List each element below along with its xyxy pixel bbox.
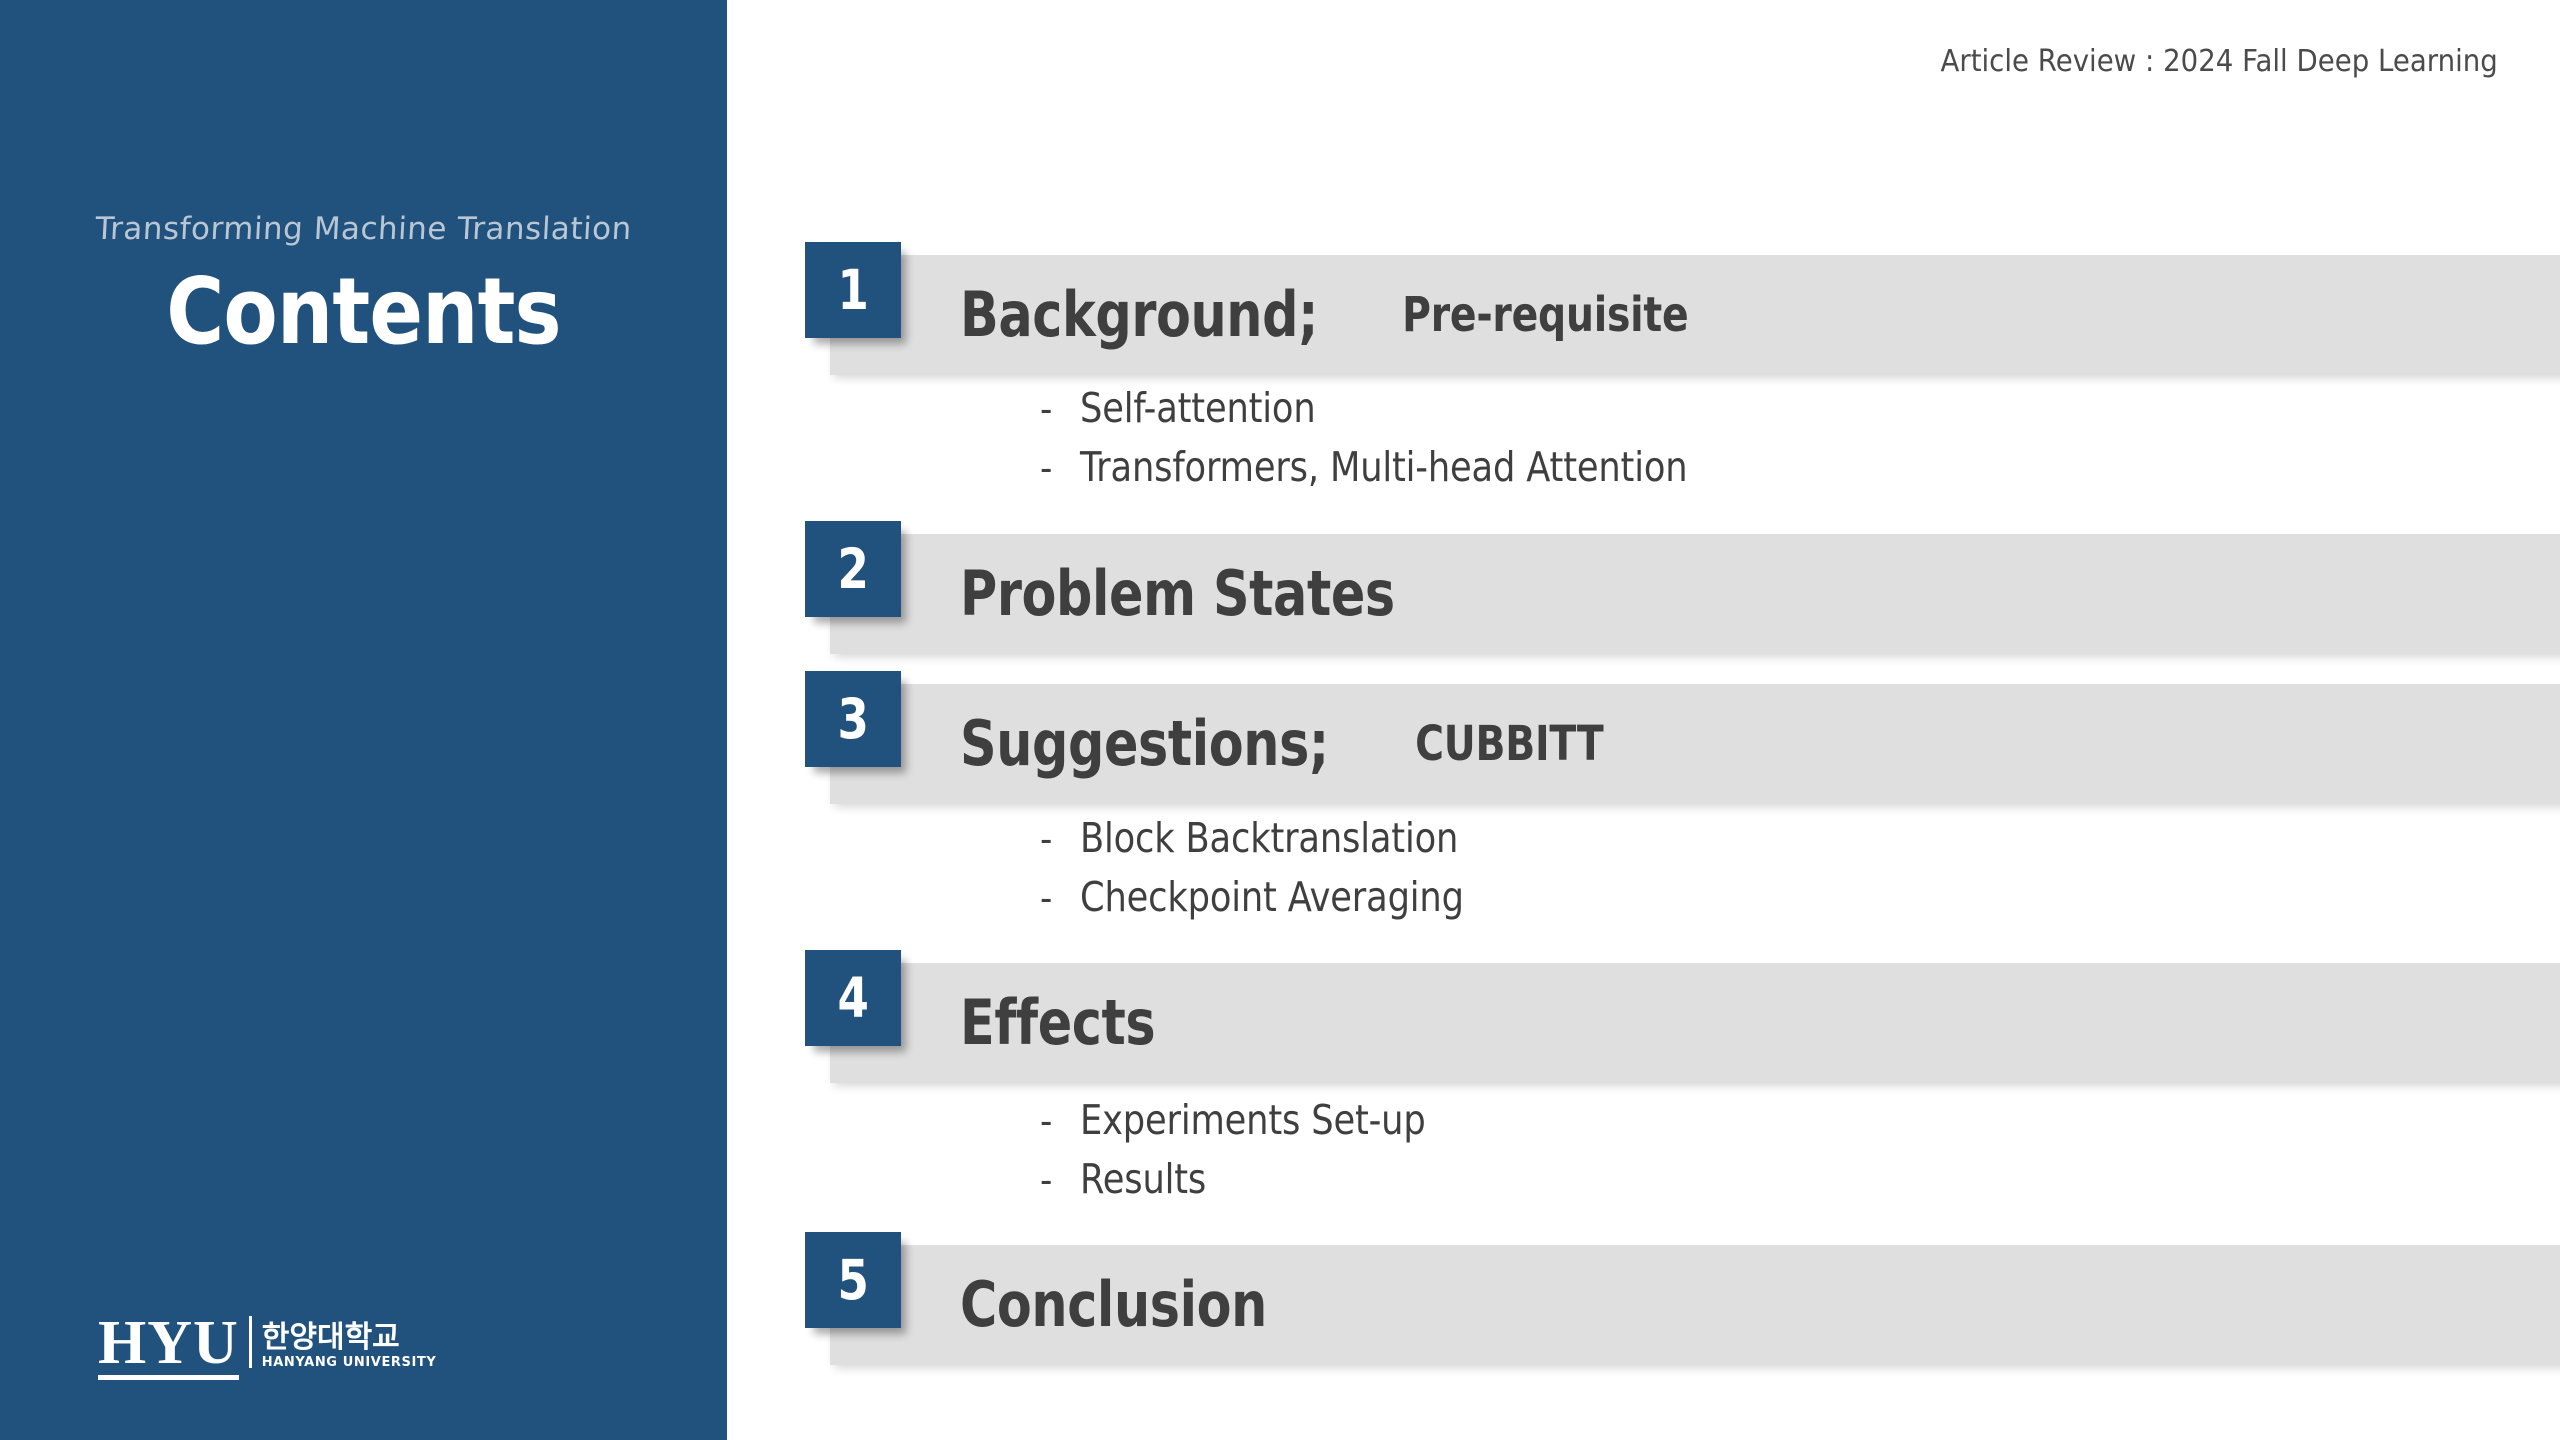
section-title: Effects [960,963,1198,1083]
section-number-badge: 5 [805,1232,901,1328]
bullet-dash-icon: - [1040,1161,1076,1199]
section-title-main: Problem States [960,563,1395,625]
section-number: 1 [837,263,868,318]
section-title-main: Conclusion [960,1274,1267,1336]
sidebar-panel: Transforming Machine Translation Content… [0,0,727,1440]
bullet-dash-icon: - [1040,820,1076,858]
contents-section-1-bullets: - Self-attention - Transformers, Multi-h… [727,388,2560,506]
bullet-dash-icon: - [1040,1102,1076,1140]
section-number-badge: 2 [805,521,901,617]
section-title: Problem States [960,534,1490,654]
list-item: - Checkpoint Averaging [727,877,2560,936]
bullet-dash-icon: - [1040,879,1076,917]
sidebar-heading-block: Transforming Machine Translation Content… [0,212,727,361]
contents-section-4[interactable]: 4 Effects [727,963,2560,1083]
section-title-main: Background; [960,284,1318,346]
section-number: 5 [837,1253,868,1308]
contents-section-3-bullets: - Block Backtranslation - Checkpoint Ave… [727,818,2560,936]
bullet-label: Checkpoint Averaging [1080,877,1464,918]
page-title: Contents [51,264,676,361]
section-title: Background; Pre-requisite [960,255,1754,375]
section-number-badge: 3 [805,671,901,767]
section-number: 3 [837,692,868,747]
hyu-logo-names: 한양대학교 HANYANG UNIVERSITY [262,1323,437,1380]
section-title-sub: Pre-requisite [1389,291,1688,339]
bullet-dash-icon: - [1040,390,1076,428]
list-item: - Transformers, Multi-head Attention [727,447,2560,506]
section-number-badge: 1 [805,242,901,338]
section-number-badge: 4 [805,950,901,1046]
contents-section-4-bullets: - Experiments Set-up - Results [727,1100,2560,1218]
bullet-label: Self-attention [1080,388,1316,429]
bullet-label: Results [1080,1159,1206,1200]
hyu-logo-initials: HYU [98,1315,239,1380]
contents-section-2[interactable]: 2 Problem States [727,534,2560,654]
slide-root: Transforming Machine Translation Content… [0,0,2560,1440]
hyu-logo-divider [249,1316,252,1368]
bullet-label: Experiments Set-up [1080,1100,1426,1141]
section-title-sub: CUBBITT [1402,720,1604,768]
bullet-dash-icon: - [1040,449,1076,487]
list-item: - Experiments Set-up [727,1100,2560,1159]
section-number: 4 [837,971,868,1026]
list-item: - Results [727,1159,2560,1218]
bullet-label: Block Backtranslation [1080,818,1458,859]
hyu-logo-name-kr: 한양대학교 [262,1323,437,1353]
contents-section-3[interactable]: 3 Suggestions; CUBBITT [727,684,2560,804]
section-title: Suggestions; CUBBITT [960,684,1648,804]
section-title-main: Effects [960,992,1155,1054]
hyu-logo: HYU 한양대학교 HANYANG UNIVERSITY [98,1315,436,1380]
sidebar-subtitle: Transforming Machine Translation [0,212,728,246]
list-item: - Self-attention [727,388,2560,447]
contents-list: 1 Background; Pre-requisite - Self-atten… [727,0,2560,1440]
contents-section-1[interactable]: 1 Background; Pre-requisite [727,255,2560,375]
section-title: Conclusion [960,1245,1334,1365]
section-title-main: Suggestions; [960,713,1329,775]
section-number: 2 [837,542,868,597]
hyu-logo-name-en: HANYANG UNIVERSITY [262,1355,437,1371]
list-item: - Block Backtranslation [727,818,2560,877]
contents-section-5[interactable]: 5 Conclusion [727,1245,2560,1365]
bullet-label: Transformers, Multi-head Attention [1080,447,1687,488]
